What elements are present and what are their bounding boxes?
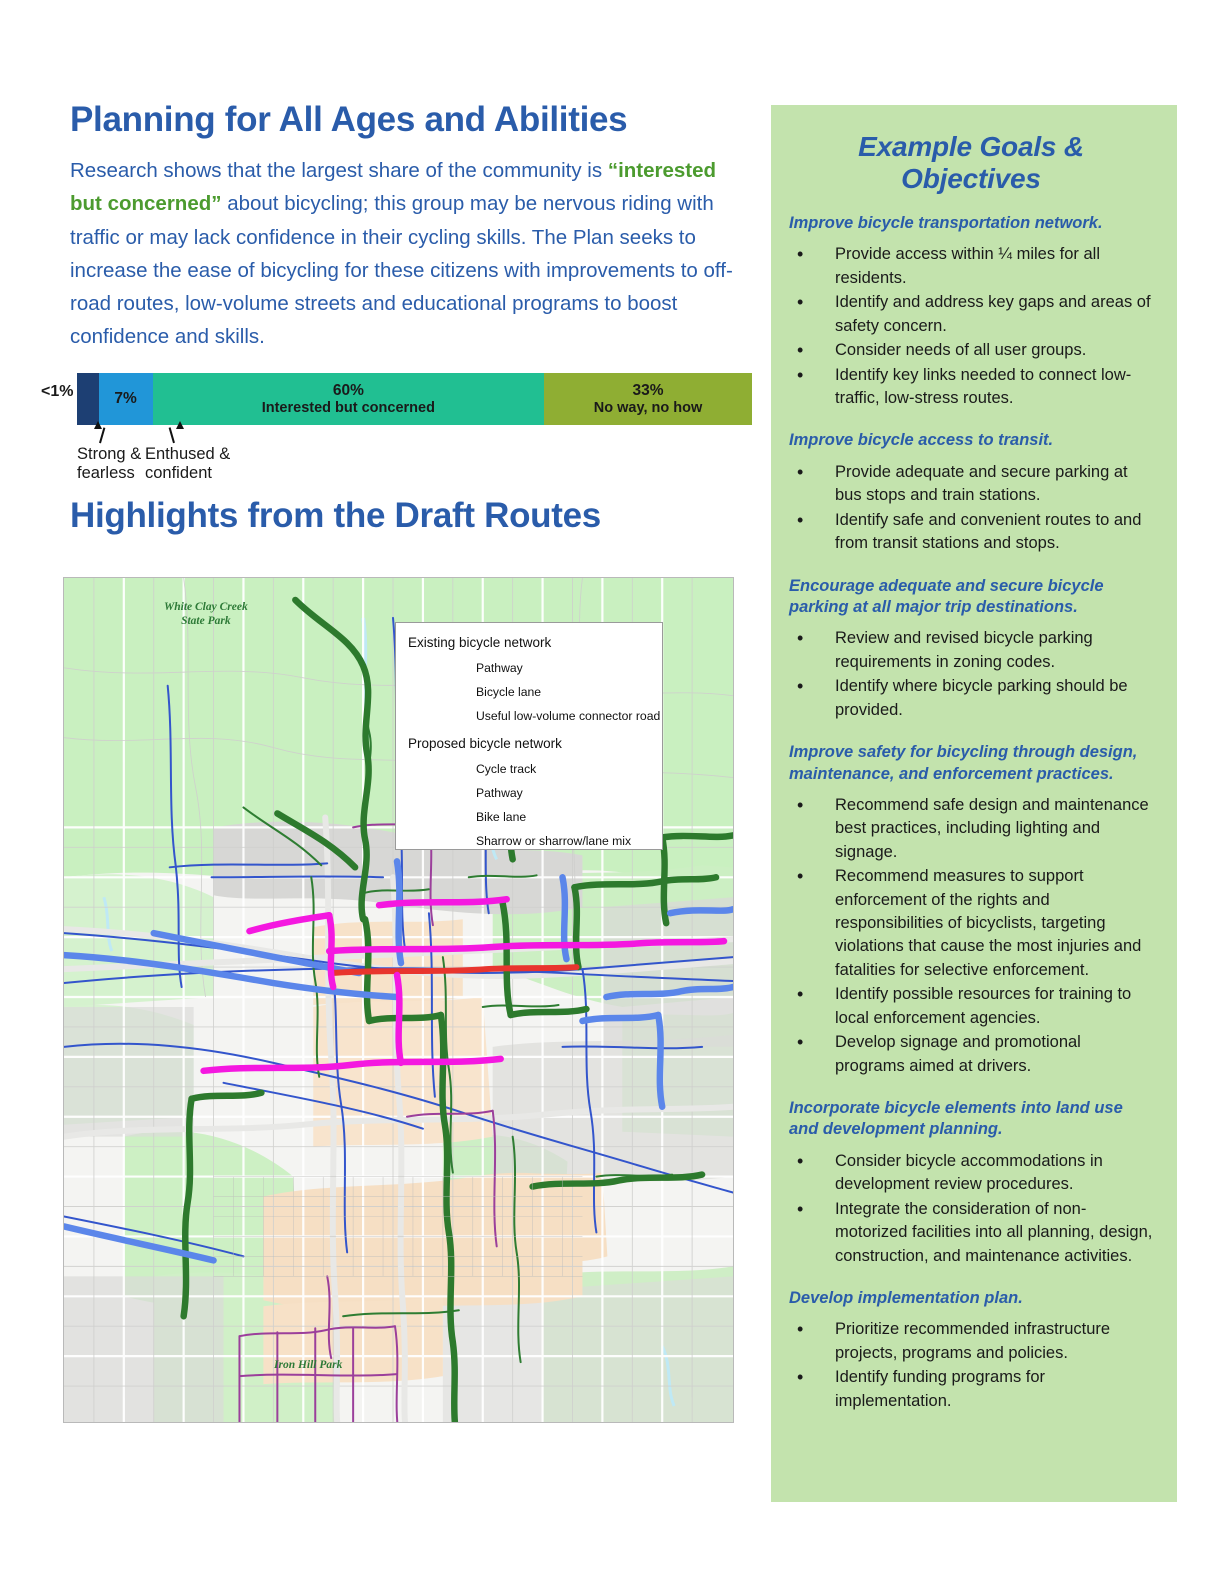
list-item: Develop signage and promotional programs… xyxy=(789,1031,1153,1078)
goal-objective-list: Recommend safe design and maintenance be… xyxy=(789,794,1153,1078)
goal-group-transit-access: Improve bicycle access to transit. Provi… xyxy=(789,430,1153,555)
bar-label-enthused-pct: 7% xyxy=(114,390,136,408)
goal-heading: Encourage adequate and secure bicycle pa… xyxy=(789,576,1153,619)
legend-label-bike-lane: Bike lane xyxy=(476,810,526,824)
list-item: Provide adequate and secure parking at b… xyxy=(789,461,1153,508)
list-item: Prioritize recommended infrastructure pr… xyxy=(789,1318,1153,1365)
goal-heading: Improve bicycle transportation network. xyxy=(789,213,1153,234)
legend-item-proposed-bike-lane: Bike lane xyxy=(406,805,652,829)
legend-label-pathway: Pathway xyxy=(476,661,523,675)
paragraph-part-2: about bicycling; this group may be nervo… xyxy=(70,192,733,348)
goal-heading: Improve bicycle access to transit. xyxy=(789,430,1153,451)
legend-label-sharrow: Sharrow or sharrow/lane mix xyxy=(476,834,631,848)
bar-label-interested-name: Interested but concerned xyxy=(262,400,435,417)
list-item: Identify safe and convenient routes to a… xyxy=(789,509,1153,556)
legend-item-existing-bicycle-lane: Bicycle lane xyxy=(406,680,652,704)
bar-segment-no-way: 33% No way, no how xyxy=(544,373,752,425)
bar-label-noway-pct: 33% xyxy=(633,382,664,400)
goal-objective-list: Review and revised bicycle parking requi… xyxy=(789,627,1153,722)
callout-enthused-confident: Enthused &confident xyxy=(145,445,230,484)
bar-segment-interested-concerned: 60% Interested but concerned xyxy=(153,373,545,425)
list-item: Identify funding programs for implementa… xyxy=(789,1366,1153,1413)
goal-group-transportation-network: Improve bicycle transportation network. … xyxy=(789,213,1153,410)
page-title: Planning for All Ages and Abilities xyxy=(70,100,740,140)
goal-group-safety: Improve safety for bicycling through des… xyxy=(789,742,1153,1078)
list-item: Identify possible resources for training… xyxy=(789,983,1153,1030)
list-item: Recommend safe design and maintenance be… xyxy=(789,794,1153,864)
goal-heading: Incorporate bicycle elements into land u… xyxy=(789,1098,1153,1141)
legend-label-bicycle-lane: Bicycle lane xyxy=(476,685,541,699)
left-column: Planning for All Ages and Abilities Rese… xyxy=(70,100,740,353)
callout-arrow-line-strong xyxy=(99,427,105,443)
legend-title-proposed: Proposed bicycle network xyxy=(408,736,652,751)
legend-item-existing-connector: Useful low-volume connector road xyxy=(406,704,652,728)
goal-objective-list: Prioritize recommended infrastructure pr… xyxy=(789,1318,1153,1413)
bar-label-interested-pct: 60% xyxy=(333,382,364,400)
list-item: Provide access within ¼ miles for all re… xyxy=(789,243,1153,290)
goal-group-land-use: Incorporate bicycle elements into land u… xyxy=(789,1098,1153,1268)
legend-label-connector: Useful low-volume connector road xyxy=(476,709,660,723)
list-item: Identify key links needed to connect low… xyxy=(789,364,1153,411)
callout-arrow-head-enthused xyxy=(176,421,184,429)
list-item: Recommend measures to support enforcemen… xyxy=(789,865,1153,982)
goal-objective-list: Provide access within ¼ miles for all re… xyxy=(789,243,1153,410)
legend-item-proposed-cycle-track: Cycle track xyxy=(406,757,652,781)
bar-label-strong-fearless-pct: <1% xyxy=(41,383,73,401)
bar-label-noway-name: No way, no how xyxy=(594,400,702,417)
list-item: Integrate the consideration of non-motor… xyxy=(789,1198,1153,1268)
goal-objective-list: Provide adequate and secure parking at b… xyxy=(789,461,1153,556)
list-item: Identify where bicycle parking should be… xyxy=(789,675,1153,722)
bar-segment-enthused-confident: 7% xyxy=(99,373,153,425)
map-legend: Existing bicycle network Pathway Bicycle… xyxy=(395,622,663,850)
rider-types-chart: <1% 7% 60% Interested but concerned 33% … xyxy=(77,373,752,487)
legend-title-existing: Existing bicycle network xyxy=(408,635,652,650)
legend-item-proposed-pathway: Pathway xyxy=(406,781,652,805)
goal-heading: Improve safety for bicycling through des… xyxy=(789,742,1153,785)
goal-group-bicycle-parking: Encourage adequate and secure bicycle pa… xyxy=(789,576,1153,723)
list-item: Review and revised bicycle parking requi… xyxy=(789,627,1153,674)
list-item: Identify and address key gaps and areas … xyxy=(789,291,1153,338)
list-item: Consider bicycle accommodations in devel… xyxy=(789,1150,1153,1197)
callout-arrow-head-strong xyxy=(94,421,102,429)
callout-strong-fearless: Strong &fearless xyxy=(77,445,141,484)
legend-label-proposed-pathway: Pathway xyxy=(476,786,523,800)
goal-heading: Develop implementation plan. xyxy=(789,1288,1153,1309)
section-title-highlights: Highlights from the Draft Routes xyxy=(70,496,601,536)
legend-item-existing-pathway: Pathway xyxy=(406,656,652,680)
goal-group-implementation: Develop implementation plan. Prioritize … xyxy=(789,1288,1153,1413)
goals-objectives-panel: Example Goals & Objectives Improve bicyc… xyxy=(771,105,1177,1502)
stacked-bar: <1% 7% 60% Interested but concerned 33% … xyxy=(77,373,752,425)
intro-paragraph: Research shows that the largest share of… xyxy=(70,154,740,353)
panel-title: Example Goals & Objectives xyxy=(789,131,1153,195)
callout-arrow-line-enthused xyxy=(169,427,175,443)
bar-segment-strong-fearless: <1% xyxy=(77,373,99,425)
list-item: Consider needs of all user groups. xyxy=(789,339,1153,362)
legend-label-cycle-track: Cycle track xyxy=(476,762,536,776)
goal-objective-list: Consider bicycle accommodations in devel… xyxy=(789,1150,1153,1268)
paragraph-part-1: Research shows that the largest share of… xyxy=(70,159,608,182)
legend-item-proposed-sharrow: Sharrow or sharrow/lane mix xyxy=(406,829,652,853)
chart-callouts: Strong &fearless Enthused &confident xyxy=(77,427,752,487)
